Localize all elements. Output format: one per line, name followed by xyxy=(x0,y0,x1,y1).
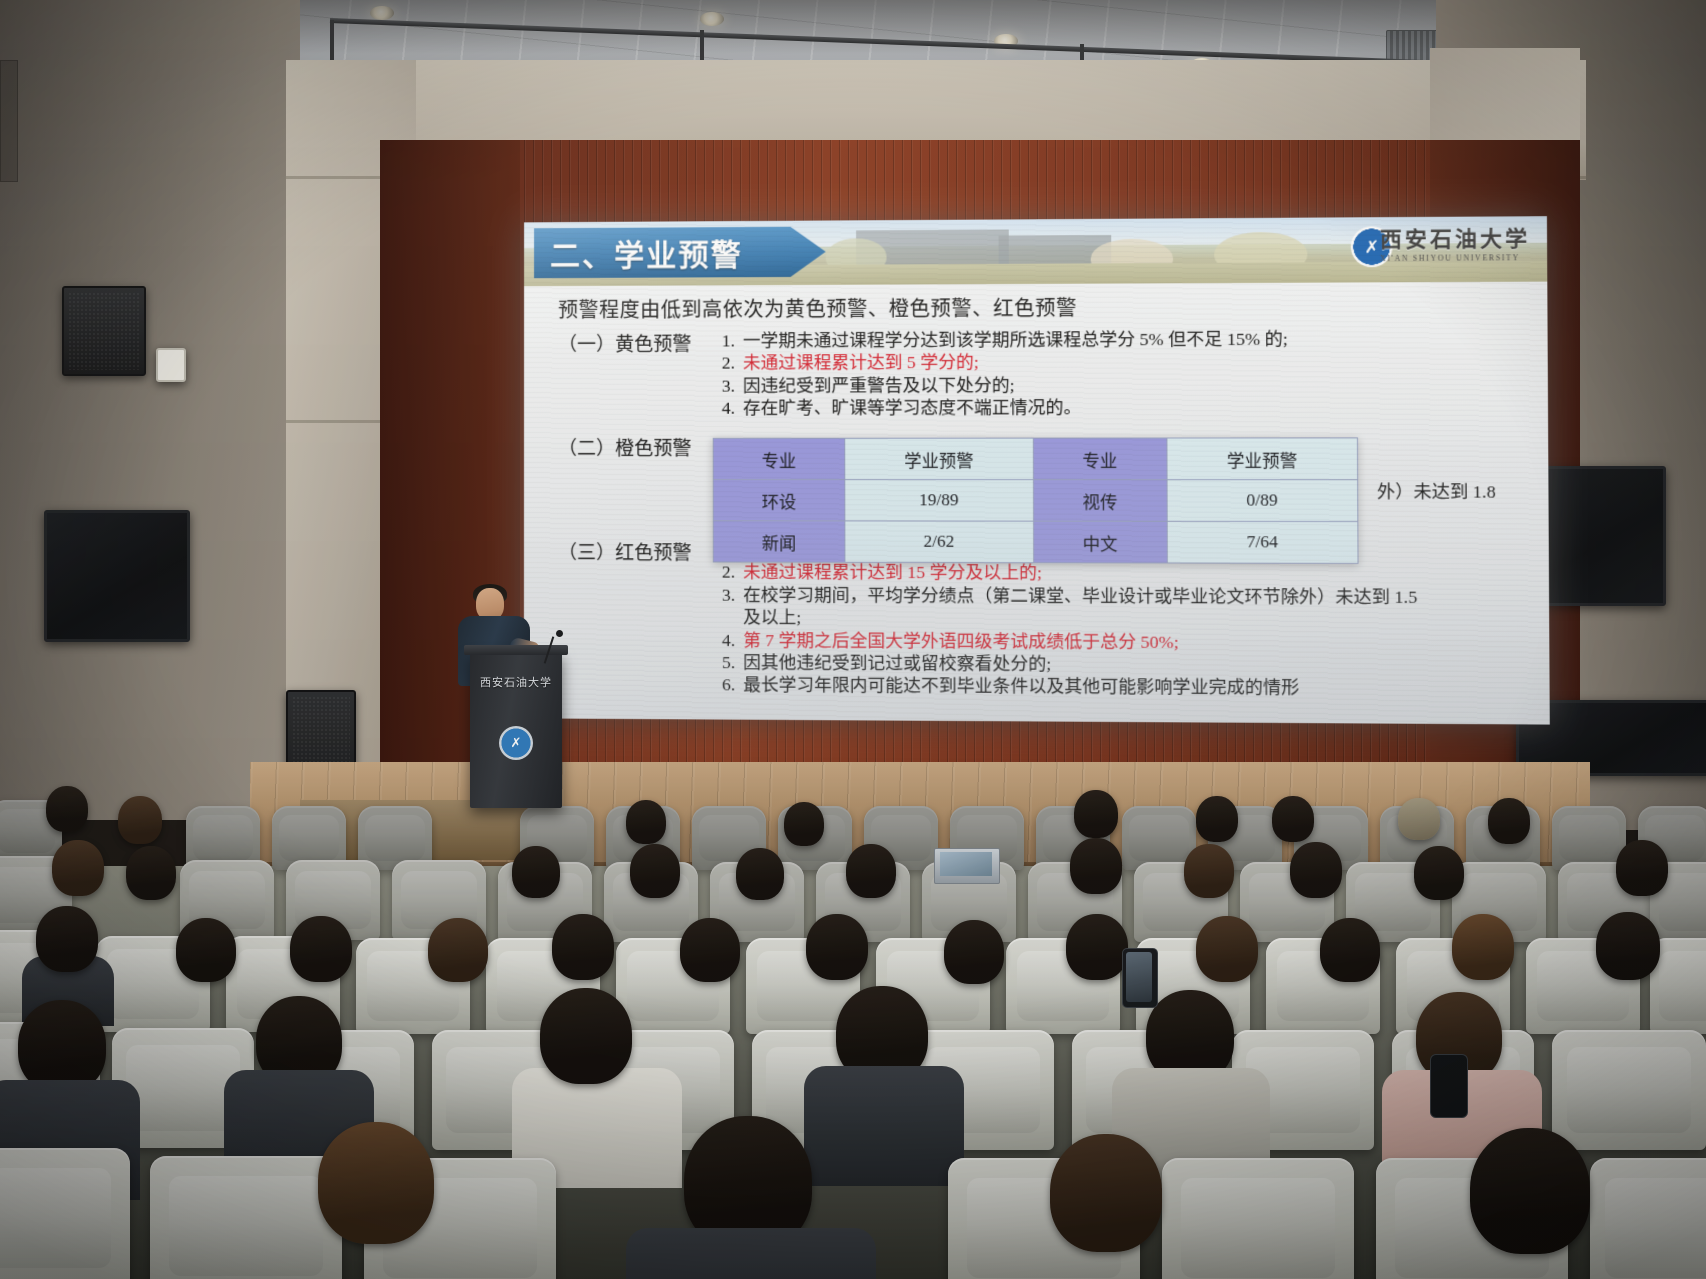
item-text: 未通过课程累计达到 15 学分及以上的; xyxy=(743,561,1042,584)
auditorium-scene: 二、学业预警 ✗ 西安石油大学 XI'AN SHIYOU UNIVERSITY … xyxy=(0,0,1706,1279)
table-cell-warning: 0/89 xyxy=(1167,480,1358,522)
audience-head xyxy=(36,906,98,972)
audience-head xyxy=(1050,1134,1162,1252)
item-text: 第 7 学期之后全国大学外语四级考试成绩低于总分 50%; xyxy=(743,629,1179,653)
item-number: 2. xyxy=(709,561,743,584)
audience-head-cap xyxy=(1398,798,1440,840)
list-item: 1.一学期未通过课程学分达到该学期所选课程总学分 5% 但不足 15% 的; xyxy=(709,327,1510,352)
audience-head xyxy=(1196,916,1258,982)
table-row: 新闻 2/62 中文 7/64 xyxy=(713,521,1358,564)
audience-head xyxy=(806,914,868,980)
audience-shoulders xyxy=(804,1066,964,1186)
audience-head xyxy=(680,918,740,982)
audience-head xyxy=(1452,914,1514,980)
list-item: 6.最长学习年限内可能达不到毕业条件以及其他可能影响学业完成的情形 xyxy=(709,673,1533,700)
item-number: 3. xyxy=(709,374,743,397)
list-item: 2.未通过课程累计达到 15 学分及以上的; xyxy=(709,561,1532,586)
table-cell-warning: 7/64 xyxy=(1167,521,1358,563)
audience-head xyxy=(126,846,176,900)
university-name-en: XI'AN SHIYOU UNIVERSITY xyxy=(1380,253,1530,263)
smartphone-device-2[interactable] xyxy=(1430,1054,1468,1118)
item-text: 一学期未通过课程学分达到该学期所选课程总学分 5% 但不足 15% 的; xyxy=(743,328,1288,352)
wall-control-panel[interactable] xyxy=(156,348,186,382)
audience-head xyxy=(52,840,104,896)
lectern-top xyxy=(464,645,568,655)
audience-head xyxy=(1616,840,1668,896)
audience-head xyxy=(1320,918,1380,982)
list-item: 3.在校学习期间，平均学分绩点（第二课堂、毕业设计或毕业论文环节除外）未达到 1… xyxy=(709,583,1533,608)
laptop-screen xyxy=(940,852,992,876)
left-wall xyxy=(0,0,300,820)
item-number: 4. xyxy=(709,628,743,651)
audience-head xyxy=(18,1000,106,1092)
item-text: 因违纪受到严重警告及以下处分的; xyxy=(743,374,1015,397)
section-orange-label: （二）橙色预警 xyxy=(558,434,709,461)
item-number: 6. xyxy=(709,673,743,696)
crest-glyph: ✗ xyxy=(511,735,522,751)
seat[interactable] xyxy=(1162,1158,1354,1279)
projection-screen: 二、学业预警 ✗ 西安石油大学 XI'AN SHIYOU UNIVERSITY … xyxy=(524,216,1550,724)
audience-head xyxy=(784,802,824,846)
seat[interactable] xyxy=(0,1148,130,1279)
lectern-crest-icon: ✗ xyxy=(499,726,533,760)
item-number: 4. xyxy=(709,397,743,420)
item-text: 因其他违纪受到记过或留校察看处分的; xyxy=(743,651,1051,675)
audience-head xyxy=(552,914,614,980)
seat[interactable] xyxy=(1552,1030,1706,1150)
audience-head xyxy=(630,844,680,898)
table-header-cell: 学业预警 xyxy=(845,438,1033,480)
table-cell-warning: 2/62 xyxy=(845,521,1033,563)
audience-head xyxy=(1272,796,1314,842)
slide-lead-text: 预警程度由低到高依次为黄色预警、橙色预警、红色预警 xyxy=(558,292,1077,323)
audience-head xyxy=(1184,844,1234,898)
audience-head xyxy=(736,848,784,900)
table-cell-major: 中文 xyxy=(1033,521,1167,563)
audience-head xyxy=(944,920,1004,984)
audience-head xyxy=(846,844,896,898)
audience-head xyxy=(1290,842,1342,898)
audience-head xyxy=(512,846,560,898)
academic-warning-table: 专业 学业预警 专业 学业预警 环设 19/89 视传 0/89 新闻 2/62… xyxy=(713,437,1359,564)
audience-head xyxy=(118,796,162,844)
table-cell-major: 视传 xyxy=(1033,480,1167,522)
seat[interactable] xyxy=(1590,1158,1706,1279)
audience-head xyxy=(540,988,632,1084)
table-row: 环设 19/89 视传 0/89 xyxy=(713,480,1358,522)
audience-head xyxy=(1074,790,1118,838)
logo-glyph: ✗ xyxy=(1364,238,1379,255)
university-name-cn: 西安石油大学 xyxy=(1380,229,1530,251)
list-item: 2.未通过课程累计达到 5 学分的; xyxy=(709,350,1510,375)
section-yellow-warning: （一）黄色预警 1.一学期未通过课程学分达到该学期所选课程总学分 5% 但不足 … xyxy=(558,327,1510,420)
table-header-cell: 专业 xyxy=(1033,438,1167,480)
microphone-head-icon xyxy=(556,630,563,637)
audience-head xyxy=(1070,838,1122,894)
table-cell-major: 新闻 xyxy=(713,521,845,563)
audience-head xyxy=(428,918,488,982)
seat[interactable] xyxy=(150,1156,342,1279)
audience-shoulders xyxy=(626,1228,876,1279)
table-header-cell: 专业 xyxy=(713,438,845,479)
list-item: 及以上; xyxy=(709,606,1533,632)
lectern: 西安石油大学 ✗ xyxy=(470,652,562,808)
table-header-cell: 学业预警 xyxy=(1167,438,1358,480)
table-cell-major: 环设 xyxy=(713,480,845,521)
audience-head xyxy=(176,918,236,982)
item-number: 3. xyxy=(709,583,743,606)
item-text: 存在旷考、旷课等学习态度不端正情况的。 xyxy=(743,396,1082,419)
slide-body: 预警程度由低到高依次为黄色预警、橙色预警、红色预警 （一）黄色预警 1.一学期未… xyxy=(524,282,1550,725)
audience-head xyxy=(1066,914,1128,980)
audience-head xyxy=(1488,798,1530,844)
item-text: 及以上; xyxy=(743,606,801,629)
slide-banner-photo: 二、学业预警 ✗ 西安石油大学 XI'AN SHIYOU UNIVERSITY xyxy=(524,216,1547,286)
university-wordmark: 西安石油大学 XI'AN SHIYOU UNIVERSITY xyxy=(1380,229,1531,263)
item-text: 未通过课程累计达到 5 学分的; xyxy=(743,351,979,374)
occluded-text-fragment: 外）未达到 1.8 xyxy=(1377,478,1496,504)
table-cell-warning: 19/89 xyxy=(845,480,1033,522)
item-number: 1. xyxy=(709,329,743,352)
audience-head xyxy=(290,916,352,982)
audience-head xyxy=(1414,846,1464,900)
slide-section-banner: 二、学业预警 xyxy=(534,227,826,279)
audience-head xyxy=(318,1122,434,1244)
audience-head xyxy=(1196,796,1238,842)
audience-head xyxy=(626,800,666,844)
item-text: 最长学习年限内可能达不到毕业条件以及其他可能影响学业完成的情形 xyxy=(743,674,1299,700)
loudspeaker-left-upper xyxy=(62,286,146,376)
slide-title: 二、学业预警 xyxy=(534,230,743,275)
item-text: 在校学习期间，平均学分绩点（第二课堂、毕业设计或毕业论文环节除外）未达到 1.5 xyxy=(743,583,1417,608)
left-wall-panel-1 xyxy=(0,60,18,182)
seat[interactable] xyxy=(1552,806,1626,870)
list-item: 3.因违纪受到严重警告及以下处分的; xyxy=(709,373,1511,397)
item-number: 5. xyxy=(709,651,743,674)
section-yellow-label: （一）黄色预警 xyxy=(558,329,709,419)
audience-head xyxy=(1596,912,1660,980)
section-yellow-list: 1.一学期未通过课程学分达到该学期所选课程总学分 5% 但不足 15% 的; 2… xyxy=(709,327,1511,420)
audience-head xyxy=(46,786,88,832)
smartphone-screen xyxy=(1126,952,1152,1002)
table-header-row: 专业 学业预警 专业 学业预警 xyxy=(713,438,1357,480)
lectern-university-name: 西安石油大学 xyxy=(470,674,562,690)
item-number: 2. xyxy=(709,352,743,375)
side-display-left xyxy=(44,510,190,642)
audience-head xyxy=(1470,1128,1590,1254)
list-item: 4.存在旷考、旷课等学习态度不端正情况的。 xyxy=(709,395,1511,419)
section-red-label: （三）红色预警 xyxy=(558,538,709,696)
